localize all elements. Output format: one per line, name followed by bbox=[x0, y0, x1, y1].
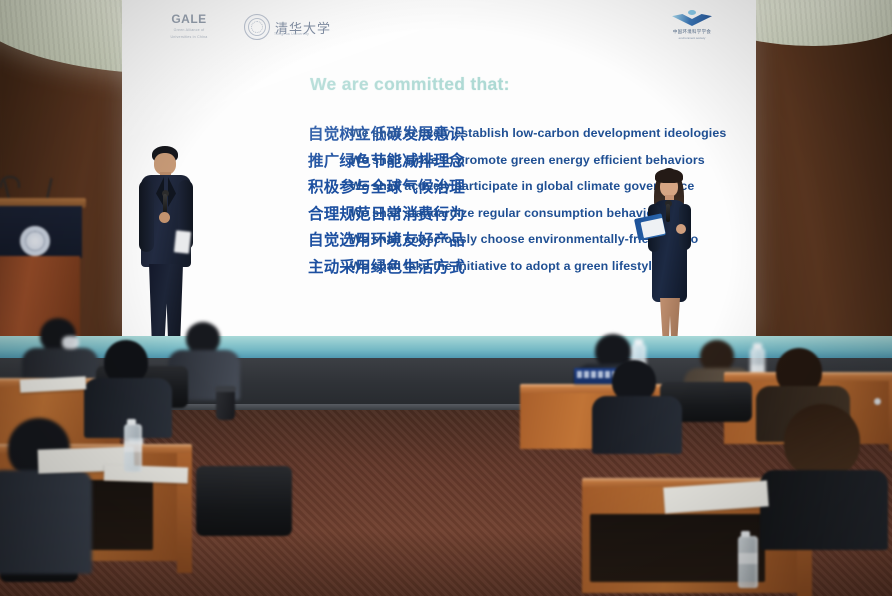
pledge-en: We shall standardize regular consumption… bbox=[338, 206, 659, 220]
male-presenter-hand bbox=[159, 212, 170, 223]
female-presenter bbox=[640, 168, 700, 352]
water-bottle bbox=[738, 536, 758, 588]
slide-heading: We are committed that: bbox=[310, 74, 510, 95]
slide-logo-row: GALE Green Alliance of Universities in C… bbox=[122, 8, 756, 44]
male-presenter bbox=[135, 146, 197, 351]
audience-body bbox=[760, 470, 888, 550]
male-presenter-notes bbox=[174, 230, 191, 253]
tsinghua-logo: 清华大学 Tsinghua University bbox=[244, 10, 344, 44]
gale-logo: GALE Green Alliance of Universities in C… bbox=[150, 12, 228, 42]
blue-mountain-mark-icon bbox=[672, 12, 712, 27]
female-presenter-hand bbox=[676, 224, 686, 234]
pledge-cn: 自觉树立低碳发展意识 bbox=[122, 122, 338, 144]
pledge-en: We shall actively establish low-carbon d… bbox=[338, 126, 726, 140]
pledge-row: 自觉树立低碳发展意识 We shall actively establish l… bbox=[122, 120, 756, 147]
partner-logo: 中国环境科学学会 environment society bbox=[644, 12, 740, 44]
water-bottle bbox=[124, 424, 142, 472]
partner-logo-sub: environment society bbox=[644, 36, 740, 40]
podium-front-panel bbox=[0, 206, 82, 258]
pledge-en: We shall take the initiative to adopt a … bbox=[338, 259, 659, 273]
gale-logo-tagline-2: Universities in China bbox=[150, 35, 228, 40]
conference-hall-photo: GALE Green Alliance of Universities in C… bbox=[0, 0, 892, 596]
partner-logo-text: 中国环境科学学会 bbox=[644, 29, 740, 35]
tsinghua-logo-name-en: Tsinghua University bbox=[274, 32, 309, 36]
gale-logo-name: GALE bbox=[150, 12, 228, 26]
audience-body bbox=[592, 396, 682, 454]
face-mask bbox=[62, 336, 79, 349]
pledge-en: We shall strive to promote green energy … bbox=[338, 153, 705, 167]
audience-head bbox=[784, 404, 860, 478]
audience-body bbox=[0, 470, 92, 574]
podium-emblem-icon bbox=[20, 226, 50, 256]
tsinghua-seal-icon bbox=[244, 14, 270, 40]
audience-chair bbox=[196, 466, 292, 536]
gale-logo-tagline-1: Green Alliance of bbox=[150, 28, 228, 33]
travel-tumbler bbox=[216, 390, 235, 420]
male-presenter-legs bbox=[149, 264, 183, 340]
paper-document bbox=[104, 465, 189, 484]
